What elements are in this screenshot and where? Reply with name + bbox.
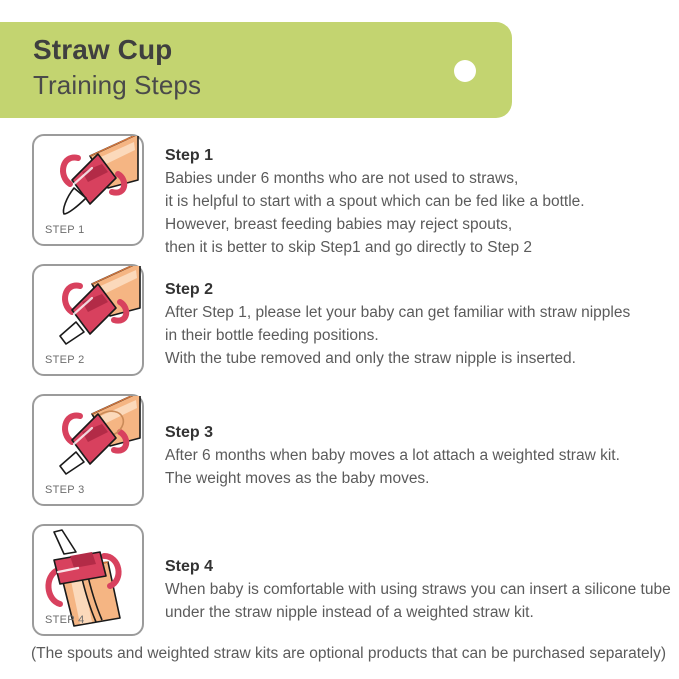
steps-list: STEP 1 Step 1 Babies under 6 months who … [0, 134, 679, 654]
punch-hole-icon [454, 60, 476, 82]
step-line: Babies under 6 months who are not used t… [165, 167, 670, 190]
step-description: After 6 months when baby moves a lot att… [165, 444, 670, 490]
step-line: in their bottle feeding positions. [165, 324, 670, 347]
step-box-label: STEP 4 [45, 614, 85, 626]
step-line: After Step 1, please let your baby can g… [165, 301, 670, 324]
step-heading: Step 1 [165, 145, 670, 167]
step-text-block: Step 1 Babies under 6 months who are not… [165, 145, 670, 259]
page-title: Straw Cup [33, 34, 172, 66]
step-row: STEP 3 Step 3 After 6 months when baby m… [0, 394, 679, 524]
step-row: STEP 2 Step 2 After Step 1, please let y… [0, 264, 679, 394]
step-box-label: STEP 2 [45, 354, 85, 366]
step-illustration-box: STEP 1 [32, 134, 144, 246]
step-description: After Step 1, please let your baby can g… [165, 301, 670, 370]
step-text-block: Step 2 After Step 1, please let your bab… [165, 279, 670, 370]
step-illustration-box: STEP 2 [32, 264, 144, 376]
step-line: then it is better to skip Step1 and go d… [165, 236, 670, 259]
step-line: However, breast feeding babies may rejec… [165, 213, 670, 236]
step-heading: Step 2 [165, 279, 670, 301]
step-line: With the tube removed and only the straw… [165, 347, 670, 370]
step-heading: Step 3 [165, 422, 670, 444]
step-box-label: STEP 3 [45, 484, 85, 496]
step-row: STEP 1 Step 1 Babies under 6 months who … [0, 134, 679, 264]
step-illustration-box: STEP 3 [32, 394, 144, 506]
step-heading: Step 4 [165, 556, 670, 578]
step-line: The weight moves as the baby moves. [165, 467, 670, 490]
step-box-label: STEP 1 [45, 224, 85, 236]
page-subtitle: Training Steps [33, 70, 201, 101]
step-line: After 6 months when baby moves a lot att… [165, 444, 670, 467]
step-line: under the straw nipple instead of a weig… [165, 601, 670, 624]
step-text-block: Step 4 When baby is comfortable with usi… [165, 556, 670, 624]
step-description: Babies under 6 months who are not used t… [165, 167, 670, 259]
step-line: When baby is comfortable with using stra… [165, 578, 670, 601]
header-banner: Straw Cup Training Steps [0, 22, 512, 118]
step-illustration-box: STEP 4 [32, 524, 144, 636]
footnote: (The spouts and weighted straw kits are … [31, 645, 666, 663]
step-text-block: Step 3 After 6 months when baby moves a … [165, 422, 670, 490]
step-line: it is helpful to start with a spout whic… [165, 190, 670, 213]
step-row: STEP 4 Step 4 When baby is comfortable w… [0, 524, 679, 654]
step-description: When baby is comfortable with using stra… [165, 578, 670, 624]
